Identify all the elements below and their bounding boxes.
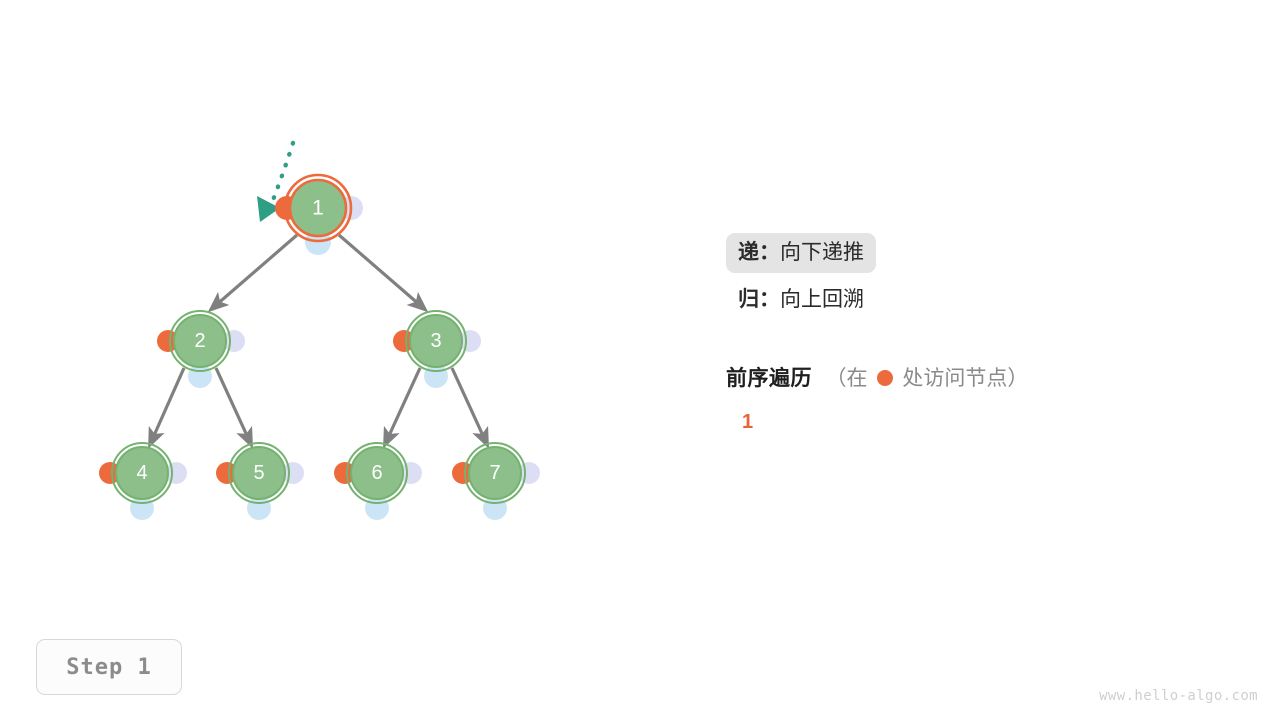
tree-node-6[interactable]: 6 (334, 443, 422, 520)
edge-2-4 (152, 368, 184, 440)
tree-node-4[interactable]: 4 (99, 443, 187, 520)
edge-3-7 (452, 368, 485, 440)
tree-canvas: 1 2 3 4 5 (0, 0, 1280, 720)
edge-2-5 (216, 368, 249, 440)
legend-return-keyword: 归： (738, 288, 780, 311)
step-badge: Step 1 (36, 639, 182, 695)
node-1-label: 1 (312, 197, 324, 220)
traversal-note-before: （在 (825, 367, 867, 390)
edge-1-2 (215, 235, 297, 306)
visit-marker-dot-icon (877, 370, 893, 386)
tree-node-3[interactable]: 3 (393, 311, 481, 388)
traversal-output-sequence: 1 (742, 411, 755, 434)
tree-node-2[interactable]: 2 (157, 311, 245, 388)
step-badge-label: Step 1 (66, 655, 151, 680)
edge-1-3 (339, 235, 421, 306)
watermark: www.hello-algo.com (1099, 688, 1258, 704)
tree-node-7[interactable]: 7 (452, 443, 540, 520)
legend-return-text: 向上回溯 (780, 288, 864, 311)
node-6-label: 6 (371, 462, 382, 484)
node-2-label: 2 (194, 330, 205, 352)
node-5-label: 5 (253, 462, 264, 484)
legend-recurse-text: 向下递推 (780, 241, 864, 264)
pointer-dotted-path (271, 143, 293, 205)
node-7-label: 7 (489, 462, 500, 484)
node-3-label: 3 (430, 330, 441, 352)
legend-panel: 递：向下递推 归：向上回溯 (726, 233, 1256, 320)
traversal-header: 前序遍历 （在 处访问节点） (726, 362, 1266, 392)
traversal-title: 前序遍历 (726, 367, 812, 390)
legend-row-return: 归：向上回溯 (726, 280, 1256, 320)
traversal-note-after: 处访问节点） (902, 367, 1028, 390)
legend-recurse-keyword: 递： (738, 241, 780, 264)
tree-node-5[interactable]: 5 (216, 443, 304, 520)
legend-row-recurse: 递：向下递推 (726, 233, 1256, 273)
node-4-label: 4 (136, 462, 147, 484)
edge-3-6 (387, 368, 420, 440)
